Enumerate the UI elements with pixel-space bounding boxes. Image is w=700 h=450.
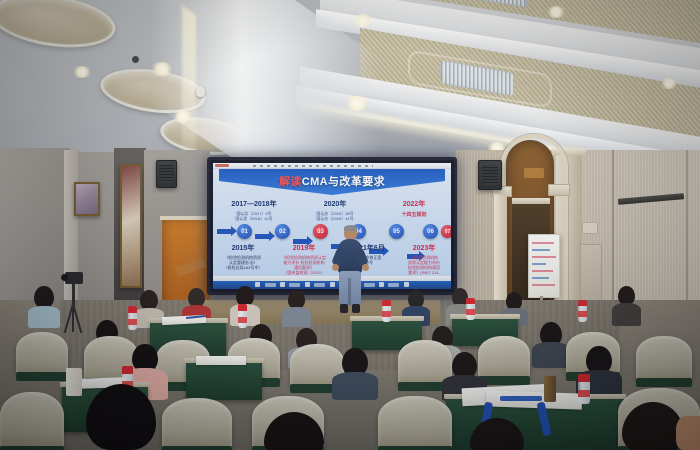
- timeline-node-05[interactable]: 05: [389, 224, 404, 239]
- ceiling-sensor: [132, 56, 139, 63]
- timeline-node-06[interactable]: 06: [423, 224, 438, 239]
- chair-front-4[interactable]: [378, 396, 452, 450]
- slide-content: 解读CMA与改革要求 2017—2018年 国认实〔2017〕2号 国认发〔20…: [213, 163, 451, 289]
- attendee-body-c2: [332, 372, 378, 400]
- wall-speaker-right: [478, 160, 502, 190]
- framed-picture-1: [74, 182, 100, 216]
- bottom-entry-0: 2015年 《检验检测机构资质 认定管理办法》 （质检总局163号令）: [215, 243, 271, 270]
- water-bottle-7: [578, 374, 590, 404]
- papers-row2-mid: [196, 356, 246, 365]
- downlight-2: [72, 66, 92, 78]
- timeline-node-07[interactable]: 07: [441, 225, 451, 238]
- presenter-hand-left: [332, 264, 339, 271]
- wall-outlet: [582, 222, 598, 234]
- blue-folder-strip: [500, 396, 542, 401]
- bottom-year-3: 2023年: [399, 243, 449, 253]
- camera-lens-icon: [61, 274, 68, 281]
- timeline-node-01[interactable]: 01: [237, 224, 252, 239]
- door-header-trim: [512, 198, 550, 204]
- column-capital-right: [548, 184, 570, 196]
- top-entry-1: 2020年 国认办〔2020〕28号 国认办〔2020〕41号: [307, 199, 363, 221]
- timeline: 01 02 03 04 05 06 07: [217, 223, 447, 239]
- doorway-lintel: [160, 216, 212, 220]
- ceiling: [0, 0, 700, 175]
- framed-picture-2: [120, 164, 142, 288]
- attendee-hand-front: [676, 416, 700, 450]
- downlight-7: [660, 78, 678, 89]
- status-bar: [213, 276, 451, 281]
- thermos-cup: [66, 368, 82, 396]
- timeline-node-03[interactable]: 03: [313, 224, 328, 239]
- top-line-2-0: 十四五规划: [385, 212, 443, 218]
- bottom-entry-1: 2019年 《检验检测机构资质认定 能力评价 检验检测机构 通用要求》 （国市监…: [275, 243, 333, 275]
- top-entry-0: 2017—2018年 国认实〔2017〕2号 国认发〔2018〕12号: [225, 199, 283, 221]
- ppt-ribbon: [213, 163, 451, 169]
- bottom-year-1: 2019年: [275, 243, 333, 253]
- presenter-hair: [344, 225, 357, 231]
- slide-title-main: CMA与改革要求: [302, 176, 385, 188]
- downlight-5: [344, 96, 370, 111]
- top-year-0: 2017—2018年: [225, 199, 283, 209]
- conference-room-photo: 解读CMA与改革要求 2017—2018年 国认实〔2017〕2号 国认发〔20…: [0, 0, 700, 450]
- bottom-entry-3: 2023年 《检验检测机构 资质认定能力评价 检验检测机构通用 要求》(RB/T…: [399, 243, 449, 280]
- top-line-1-1: 国认办〔2020〕41号: [307, 216, 363, 221]
- chair-front-2[interactable]: [162, 398, 232, 450]
- bottom-year-0: 2015年: [215, 243, 271, 253]
- downlight-4: [352, 14, 374, 27]
- thermos-flask: [544, 376, 556, 402]
- slide-title-highlight: 解读: [279, 176, 302, 188]
- timeline-arrow-0: [217, 229, 233, 234]
- presenter-hand-right: [362, 264, 369, 271]
- table-row2-mid: [186, 362, 262, 400]
- top-line-0-1: 国认发〔2018〕12号: [225, 216, 283, 221]
- attendee-head-a1: [34, 286, 54, 308]
- wall-speaker-left: [156, 160, 177, 188]
- downlight-3: [172, 110, 194, 123]
- archway-ornament: [524, 168, 544, 178]
- bottom-line-1-3: （国市监检测〔2019〕: [275, 270, 333, 275]
- attendee-head-a4: [236, 286, 254, 306]
- led-presentation-screen[interactable]: 解读CMA与改革要求 2017—2018年 国认实〔2017〕2号 国认发〔20…: [207, 157, 457, 295]
- downlight-6: [546, 6, 566, 18]
- top-year-1: 2020年: [307, 199, 363, 209]
- downlight-1: [150, 62, 174, 76]
- ceiling-camera-dome: [196, 86, 205, 97]
- slide-title: 解读CMA与改革要求: [219, 173, 445, 189]
- timeline-node-02[interactable]: 02: [275, 224, 290, 239]
- chair-front-1[interactable]: [0, 392, 64, 450]
- top-year-2: 2022年: [385, 199, 443, 209]
- timeline-arrow-1: [255, 234, 271, 239]
- top-entry-2: 2022年 十四五规划: [385, 199, 443, 218]
- attendee-head-a2: [140, 290, 158, 310]
- bottom-line-0-2: （质检总局163号令）: [215, 265, 271, 270]
